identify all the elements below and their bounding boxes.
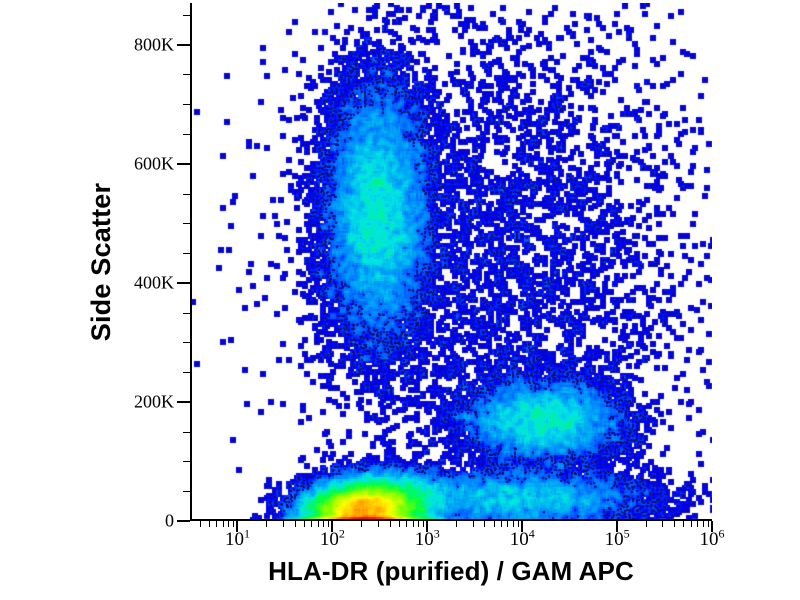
x-tick-minor — [361, 521, 362, 527]
x-tick-minor — [304, 521, 305, 527]
x-tick-minor — [399, 521, 400, 527]
x-tick-minor — [328, 521, 329, 527]
x-tick-minor — [413, 521, 414, 527]
x-tick-minor — [283, 521, 284, 527]
x-tick-minor — [323, 521, 324, 527]
y-tick-minor — [183, 342, 190, 343]
y-tick-label: 800K — [134, 34, 174, 55]
x-tick-minor — [406, 521, 407, 527]
y-tick-label: 600K — [134, 153, 174, 174]
x-tick-minor — [501, 521, 502, 527]
x-tick-minor — [518, 521, 519, 527]
plot-area — [190, 3, 712, 521]
y-tick-minor — [183, 134, 190, 135]
x-tick-minor — [390, 521, 391, 527]
x-tick-minor — [697, 521, 698, 527]
x-tick-label: 102 — [320, 529, 345, 551]
y-tick-minor — [183, 15, 190, 16]
y-tick-label: 200K — [134, 391, 174, 412]
x-tick-minor — [484, 521, 485, 527]
x-tick-minor — [662, 521, 663, 527]
x-tick-label: 105 — [605, 529, 630, 551]
y-axis-title: Side Scatter — [78, 3, 124, 521]
scatter-density-canvas — [192, 3, 712, 521]
x-tick-label: 104 — [510, 529, 535, 551]
y-tick-major — [177, 520, 190, 522]
x-tick-label: 103 — [415, 529, 440, 551]
x-tick-minor — [418, 521, 419, 527]
y-tick-major — [177, 163, 190, 165]
x-tick-minor — [507, 521, 508, 527]
y-tick-minor — [183, 372, 190, 373]
y-tick-minor — [183, 461, 190, 462]
x-tick-minor — [266, 521, 267, 527]
x-tick-minor — [295, 521, 296, 527]
x-tick-minor — [513, 521, 514, 527]
x-tick-minor — [691, 521, 692, 527]
y-tick-minor — [183, 104, 190, 105]
y-tick-major — [177, 401, 190, 403]
x-tick-minor — [378, 521, 379, 527]
x-tick-minor — [233, 521, 234, 527]
x-tick-minor — [318, 521, 319, 527]
x-tick-label: 101 — [225, 529, 250, 551]
x-tick-minor — [200, 521, 201, 527]
x-axis-title: HLA-DR (purified) / GAM APC — [190, 556, 712, 587]
y-tick-minor — [183, 223, 190, 224]
y-tick-minor — [183, 491, 190, 492]
x-tick-minor — [646, 521, 647, 527]
x-tick-minor — [223, 521, 224, 527]
x-tick-minor — [228, 521, 229, 527]
y-tick-minor — [183, 253, 190, 254]
x-tick-minor — [703, 521, 704, 527]
x-tick-minor — [216, 521, 217, 527]
x-tick-minor — [423, 521, 424, 527]
y-tick-minor — [183, 74, 190, 75]
x-tick-minor — [473, 521, 474, 527]
x-tick-minor — [209, 521, 210, 527]
x-tick-minor — [494, 521, 495, 527]
x-tick-minor — [456, 521, 457, 527]
x-tick-label: 106 — [700, 529, 725, 551]
x-tick-minor — [674, 521, 675, 527]
y-tick-major — [177, 44, 190, 46]
y-tick-minor — [183, 313, 190, 314]
y-tick-label: 400K — [134, 272, 174, 293]
y-tick-major — [177, 282, 190, 284]
y-tick-minor — [183, 432, 190, 433]
flow-cytometry-dot-plot: Side Scatter 0200K400K600K800K 101102103… — [0, 0, 800, 600]
y-tick-label: 0 — [165, 511, 174, 532]
x-tick-minor — [708, 521, 709, 527]
x-tick-minor — [311, 521, 312, 527]
x-tick-minor — [683, 521, 684, 527]
y-tick-minor — [183, 194, 190, 195]
